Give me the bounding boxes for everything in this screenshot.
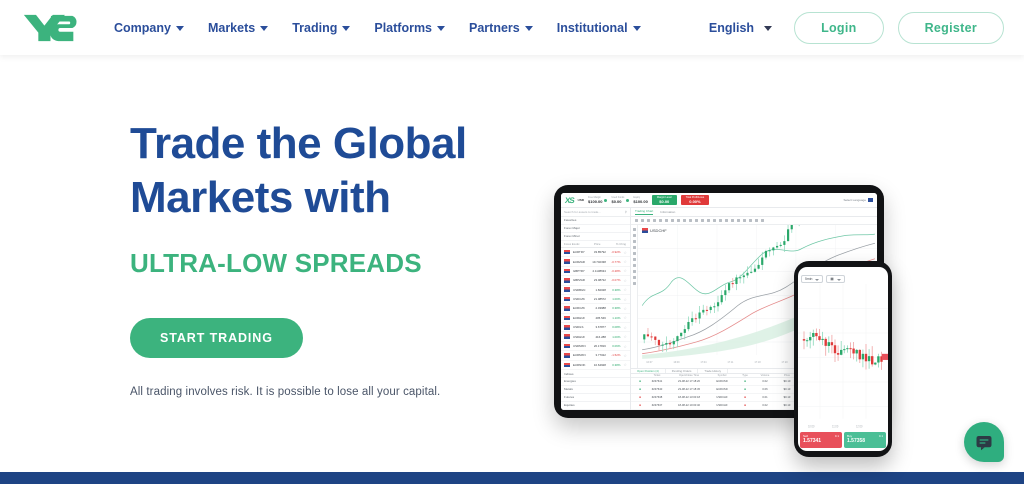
status-dot-icon	[604, 199, 607, 202]
buy-button[interactable]: 0.1 Buy 1.57358	[844, 432, 886, 448]
hero-title: Trade the Global Markets with	[130, 117, 530, 225]
svg-text:17:04: 17:04	[700, 359, 707, 363]
drawing-tool-icon[interactable]	[633, 276, 636, 279]
flag-icon	[564, 269, 570, 274]
chevron-down-icon	[764, 26, 772, 31]
timeframe-selector[interactable]: 5min	[801, 275, 823, 283]
phone-screen: 5min ▦	[798, 267, 888, 451]
watchlist-group-metals[interactable]: Metals	[561, 386, 630, 394]
change: 1.00%	[609, 297, 621, 301]
star-icon[interactable]: ☆	[623, 362, 627, 367]
watchlist-row[interactable]: EURHUF405.5461.10%☆	[561, 314, 630, 323]
chart-tool-icon[interactable]	[761, 219, 764, 222]
price: 19.740338	[592, 260, 606, 264]
chart-tool-icon[interactable]	[743, 219, 746, 222]
account-currency: USD	[578, 198, 584, 203]
chart-tool-icon[interactable]	[731, 219, 734, 222]
watchlist-search[interactable]: Search for assets to trade... ⚲	[561, 208, 630, 217]
drawing-tool-icon[interactable]	[633, 228, 636, 231]
drawing-tool-icon[interactable]	[633, 264, 636, 267]
watchlist-row[interactable]: USDMXN20.178160.06%☆	[561, 342, 630, 351]
price: 2.03988	[592, 306, 606, 310]
hero-copy: Trade the Global Markets with ULTRA-LOW …	[130, 117, 530, 398]
svg-text:17:20: 17:20	[781, 359, 788, 363]
login-button[interactable]: Login	[794, 12, 884, 44]
price: 416.288	[592, 335, 606, 339]
flag-icon	[564, 325, 570, 330]
search-icon: ⚲	[625, 210, 627, 214]
chart-tool-icon[interactable]	[713, 219, 716, 222]
nav-item-platforms[interactable]: Platforms	[374, 21, 445, 35]
phone-notch	[826, 262, 860, 267]
symbol: EURHUF	[573, 316, 589, 320]
watchlist-row[interactable]: USDBGN1.820280.38%☆	[561, 286, 630, 295]
phone-candlestick-svg: 10:0011:0012:00	[798, 284, 888, 431]
phone-mockup: 5min ▦	[794, 261, 892, 457]
watchlist-row[interactable]: USDHUF416.2881.00%☆	[561, 332, 630, 341]
badge-margin-level: Margin Level $0.00	[652, 195, 677, 205]
watchlist-row[interactable]: GBPZAR23.08722-0.07%☆	[561, 276, 630, 285]
watchlist-header: Forex Exotic Price % Chng	[561, 241, 630, 248]
nav-label: Company	[114, 21, 171, 35]
start-trading-button[interactable]: START TRADING	[130, 318, 303, 358]
star-icon[interactable]: ☆	[623, 315, 627, 320]
star-icon[interactable]: ☆	[623, 353, 627, 358]
change: -0.92%	[609, 250, 621, 254]
nav-item-markets[interactable]: Markets	[208, 21, 268, 35]
phone-chart-controls: 5min ▦	[798, 274, 888, 284]
price: 23.08722	[592, 278, 606, 282]
hero-section: Trade the Global Markets with ULTRA-LOW …	[0, 55, 1024, 472]
sell-button[interactable]: 0.1 Sell 1.57341	[800, 432, 842, 448]
price: 3.77022	[592, 353, 606, 357]
chart-tool-icon[interactable]	[749, 219, 752, 222]
watchlist-group-favorites[interactable]: Favorites	[561, 217, 630, 225]
chart-tool-icon[interactable]	[695, 219, 698, 222]
symbol: EURMXN	[573, 353, 589, 357]
star-icon[interactable]: ☆	[623, 268, 627, 273]
chart-tool-icon[interactable]	[677, 219, 680, 222]
candlestick-icon: ▦	[830, 277, 833, 281]
star-icon[interactable]: ☆	[623, 306, 627, 311]
footer-bar	[0, 472, 1024, 484]
star-icon[interactable]: ☆	[623, 287, 627, 292]
watchlist-row[interactable]: USDCZK21.085721.00%☆	[561, 295, 630, 304]
chart-tool-icon[interactable]	[683, 219, 686, 222]
nav-label: Platforms	[374, 21, 432, 35]
nav-item-institutional[interactable]: Institutional	[557, 21, 641, 35]
price: 21.08572	[592, 297, 606, 301]
stat-free-margin: Free Margin $100.00	[588, 196, 607, 204]
star-icon[interactable]: ☆	[623, 278, 627, 283]
price: 33.85792	[592, 250, 606, 254]
change: 1.00%	[609, 335, 621, 339]
xs-logo[interactable]	[22, 13, 78, 43]
chevron-down-icon	[176, 26, 184, 31]
chevron-down-icon	[342, 26, 350, 31]
flag-icon	[564, 353, 570, 358]
svg-text:12:00: 12:00	[856, 424, 863, 428]
drawing-tool-icon[interactable]	[633, 246, 636, 249]
symbol: USDHUF	[573, 335, 589, 339]
change: 0.38%	[609, 288, 621, 292]
chart-tool-icon[interactable]	[671, 219, 674, 222]
watchlist-group-futures[interactable]: Futures	[561, 394, 630, 402]
flag-icon	[642, 228, 648, 233]
star-icon[interactable]: ☆	[623, 297, 627, 302]
price: 3.67877	[592, 325, 606, 329]
platform-mockup: XS USD Free Margin $100.00 Used Funds	[548, 173, 948, 473]
stat-used-funds: Used Funds $0.00	[611, 196, 629, 204]
svg-text:17:11: 17:11	[727, 359, 733, 363]
header-actions: English Login Register	[709, 12, 1004, 44]
hero-subtitle: ULTRA-LOW SPREADS	[130, 248, 530, 279]
flag-icon	[868, 198, 873, 202]
change: -0.28%	[609, 269, 621, 273]
symbol: EURNOK	[573, 363, 589, 367]
watchlist-group-forex-major[interactable]: Forex Major	[561, 225, 630, 233]
price: 405.546	[592, 316, 606, 320]
nav-label: Trading	[292, 21, 337, 35]
watchlist-row[interactable]: EURMXN3.77022-1.52%☆	[561, 351, 630, 360]
change: 0.38%	[609, 363, 621, 367]
tab-information[interactable]: Information	[660, 210, 675, 214]
chart-tool-icon[interactable]	[647, 219, 650, 222]
svg-text:17:18: 17:18	[754, 359, 761, 363]
symbol: EURCZK	[573, 306, 589, 310]
chart-tool-icon[interactable]	[689, 219, 692, 222]
platform-language-selector[interactable]: Select Language	[843, 198, 873, 202]
platform-topbar: XS USD Free Margin $100.00 Used Funds	[561, 193, 877, 208]
drawing-tool-icon[interactable]	[633, 258, 636, 261]
change: -0.77%	[609, 260, 621, 264]
chevron-down-icon	[525, 26, 533, 31]
flag-icon	[564, 297, 570, 302]
chart-tool-icon[interactable]	[725, 219, 728, 222]
watchlist-group-forex-minor[interactable]: Forex Minor	[561, 233, 630, 241]
tab-trade-history[interactable]: Trade History	[698, 369, 728, 373]
flag-icon	[564, 287, 570, 292]
tab-trading-chart[interactable]: Trading Chart	[635, 209, 653, 215]
symbol: GBPZAR	[573, 278, 589, 282]
svg-text:16:07: 16:07	[646, 359, 653, 363]
price: 10.64928	[592, 363, 606, 367]
chat-message-icon	[975, 433, 993, 451]
watchlist-rows: EURTRY33.85792-0.92%☆EURZAR19.740338-0.7…	[561, 248, 630, 370]
watchlist-row[interactable]: EURTRY33.85792-0.92%☆	[561, 248, 630, 257]
chart-tool-icon[interactable]	[665, 219, 668, 222]
svg-text:16:09: 16:09	[673, 359, 680, 363]
watchlist-group-equities[interactable]: Equities	[561, 402, 630, 410]
chart-tool-icon[interactable]	[653, 219, 656, 222]
change: 1.10%	[609, 316, 621, 320]
chart-tool-icon[interactable]	[641, 219, 644, 222]
badge-total-pl: Total Profit/Loss 0.00%	[681, 195, 709, 205]
symbol: USDMXN	[573, 344, 589, 348]
star-icon[interactable]: ☆	[623, 250, 627, 255]
flag-icon	[564, 363, 570, 368]
chart-type-selector[interactable]: ▦	[826, 275, 844, 283]
nav-label: Partners	[469, 21, 520, 35]
change: 0.08%	[609, 325, 621, 329]
hero-title-line1: Trade the Global	[130, 117, 530, 171]
chat-widget-button[interactable]	[964, 422, 1004, 462]
change: 0.38%	[609, 306, 621, 310]
drawing-tool-icon[interactable]	[633, 252, 636, 255]
price: 1.82028	[592, 288, 606, 292]
symbol: USDBGN	[573, 288, 589, 292]
chart-tool-icon[interactable]	[755, 219, 758, 222]
change: -1.52%	[609, 353, 621, 357]
watchlist-group-indices[interactable]: Indices	[561, 370, 630, 378]
watchlist-row[interactable]: EURZAR19.740338-0.77%☆	[561, 257, 630, 266]
flag-icon	[564, 259, 570, 264]
star-icon[interactable]: ☆	[623, 325, 627, 330]
nav-item-trading[interactable]: Trading	[292, 21, 350, 35]
status-dot-icon	[626, 199, 629, 202]
watchlist-row[interactable]: EURNOK10.649280.38%☆	[561, 361, 630, 370]
chevron-down-icon	[837, 279, 841, 281]
phone-trade-buttons: 0.1 Sell 1.57341 0.1 Buy 1.57358	[798, 431, 888, 451]
chart-drawing-toolbar	[631, 225, 638, 368]
chart-symbol-label: USDCHF	[642, 228, 667, 233]
price: 2.1138634	[592, 269, 606, 273]
symbol: EURTRY	[573, 250, 589, 254]
watchlist-group-energies[interactable]: Energies	[561, 378, 630, 386]
flag-icon	[564, 344, 570, 349]
svg-text:10:00: 10:00	[808, 424, 815, 428]
flag-icon	[564, 306, 570, 311]
tab-open-positions[interactable]: Open Position (4)	[631, 369, 666, 373]
star-icon[interactable]: ☆	[623, 334, 627, 339]
chevron-down-icon	[815, 279, 819, 281]
drawing-tool-icon[interactable]	[633, 282, 636, 285]
star-icon[interactable]: ☆	[623, 259, 627, 264]
main-navigation: Company Markets Trading Platforms Partne…	[114, 21, 641, 35]
watchlist-panel: Search for assets to trade... ⚲ Favorite…	[561, 208, 631, 410]
tab-pending-orders[interactable]: Pending Orders	[666, 369, 699, 373]
symbol: EURZAR	[573, 260, 589, 264]
hero-title-line2: Markets with	[130, 171, 530, 225]
change: -0.07%	[609, 278, 621, 282]
chart-tool-icon[interactable]	[737, 219, 740, 222]
chart-tool-icon[interactable]	[719, 219, 722, 222]
symbol: USDILS	[573, 325, 589, 329]
risk-disclaimer: All trading involves risk. It is possibl…	[130, 386, 530, 398]
flag-icon	[564, 250, 570, 255]
chart-tool-icon[interactable]	[707, 219, 710, 222]
chevron-down-icon	[633, 26, 641, 31]
register-button[interactable]: Register	[898, 12, 1004, 44]
watchlist-row[interactable]: EURCZK2.039880.38%☆	[561, 304, 630, 313]
watchlist-row[interactable]: GBPTRY2.1138634-0.28%☆	[561, 267, 630, 276]
flag-icon	[564, 316, 570, 321]
flag-icon	[564, 334, 570, 339]
chevron-down-icon	[437, 26, 445, 31]
drawing-tool-icon[interactable]	[633, 270, 636, 273]
nav-item-partners[interactable]: Partners	[469, 21, 533, 35]
stat-equity: Equity $100.00	[633, 196, 647, 204]
symbol: GBPTRY	[573, 269, 589, 273]
nav-item-company[interactable]: Company	[114, 21, 184, 35]
change: 0.06%	[609, 344, 621, 348]
chart-tool-icon[interactable]	[659, 219, 662, 222]
chevron-down-icon	[260, 26, 268, 31]
chart-tool-icon[interactable]	[701, 219, 704, 222]
watchlist-row[interactable]: USDILS3.678770.08%☆	[561, 323, 630, 332]
language-selector[interactable]: English	[709, 21, 772, 35]
star-icon[interactable]: ☆	[623, 344, 627, 349]
drawing-tool-icon[interactable]	[633, 234, 636, 237]
symbol: USDCZK	[573, 297, 589, 301]
nav-label: Institutional	[557, 21, 628, 35]
platform-logo: XS	[564, 196, 574, 205]
site-header: Company Markets Trading Platforms Partne…	[0, 0, 1024, 55]
drawing-tool-icon[interactable]	[633, 240, 636, 243]
svg-text:11:00: 11:00	[832, 424, 839, 428]
chart-tool-icon[interactable]	[635, 219, 638, 222]
phone-price-chart[interactable]: 10:0011:0012:00	[798, 284, 888, 431]
nav-label: Markets	[208, 21, 255, 35]
language-label: English	[709, 21, 754, 35]
flag-icon	[564, 278, 570, 283]
chart-tabs: Trading Chart Information	[631, 208, 877, 217]
chart-toolbar	[631, 217, 877, 225]
price: 20.17816	[592, 344, 606, 348]
